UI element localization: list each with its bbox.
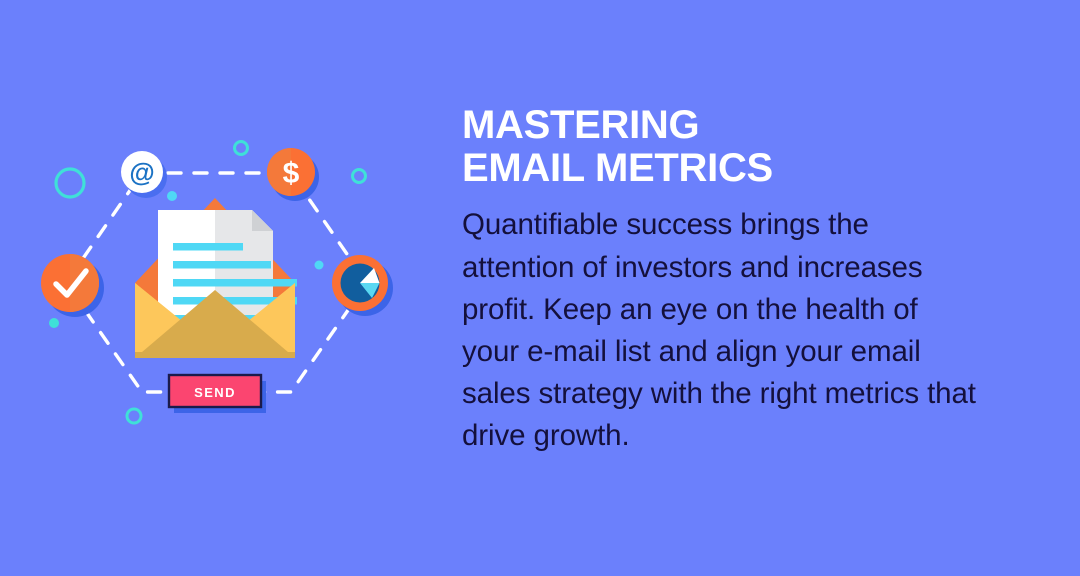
accent-dot-center (167, 191, 177, 201)
email-metrics-illustration: @ $ (0, 0, 440, 576)
letter-folded-corner (252, 210, 273, 231)
envelope-illustration (135, 198, 297, 358)
svg-text:@: @ (129, 157, 154, 187)
pie-chart-icon[interactable] (332, 255, 393, 316)
accent-ring-left (56, 169, 84, 197)
page-title: MASTERING EMAIL METRICS (462, 104, 978, 190)
send-button-label: SEND (194, 385, 236, 400)
svg-text:$: $ (283, 157, 300, 190)
send-button[interactable]: SEND (169, 375, 266, 413)
headline-line-2: EMAIL METRICS (462, 147, 978, 190)
accent-ring-topright (353, 170, 366, 183)
accent-ring-bottomleft (127, 409, 141, 423)
headline-line-1: MASTERING (462, 104, 978, 147)
poster-canvas: @ $ (0, 0, 1080, 576)
envelope-base (135, 352, 295, 358)
check-icon[interactable] (41, 254, 104, 317)
text-panel: MASTERING EMAIL METRICS Quantifiable suc… (462, 104, 978, 457)
dollar-icon[interactable]: $ (267, 148, 319, 201)
accent-dot-right (315, 261, 324, 270)
body-paragraph: Quantifiable success brings the attentio… (462, 204, 978, 457)
accent-dot-left (49, 318, 59, 328)
accent-ring-top (235, 142, 248, 155)
